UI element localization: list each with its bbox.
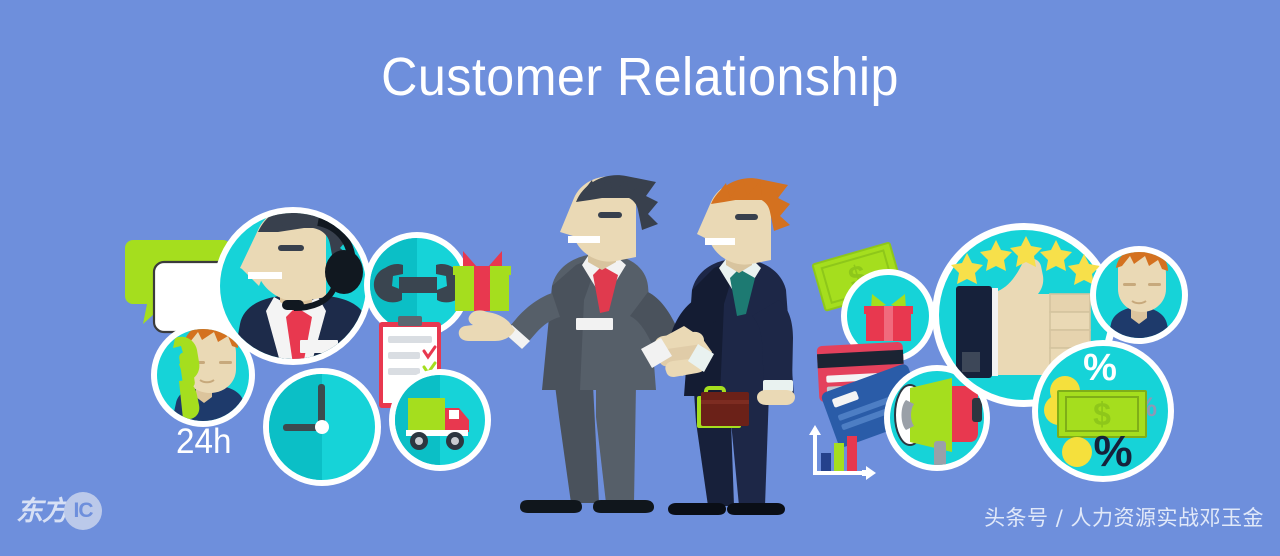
svg-text:%: % bbox=[1083, 347, 1117, 389]
watermark-right: 头条号 / 人力资源实战邓玉金 bbox=[984, 508, 1264, 529]
support-hours-label: 24h bbox=[176, 424, 231, 459]
watermark-left: 东方 IC bbox=[16, 492, 102, 530]
clock-icon bbox=[263, 368, 381, 486]
page-title: Customer Relationship bbox=[45, 48, 1235, 107]
svg-text:%: % bbox=[1093, 427, 1132, 476]
discount-money-icon: % % $ % bbox=[1032, 340, 1174, 482]
watermark-brand-cn: 东方 bbox=[16, 498, 68, 525]
watermark-ic-badge: IC bbox=[64, 492, 102, 530]
phone-customer-avatar-icon bbox=[151, 323, 255, 427]
delivery-truck-icon bbox=[389, 369, 491, 471]
customer-avatar-icon bbox=[1090, 246, 1188, 344]
illustration-canvas: $ bbox=[0, 0, 1280, 556]
